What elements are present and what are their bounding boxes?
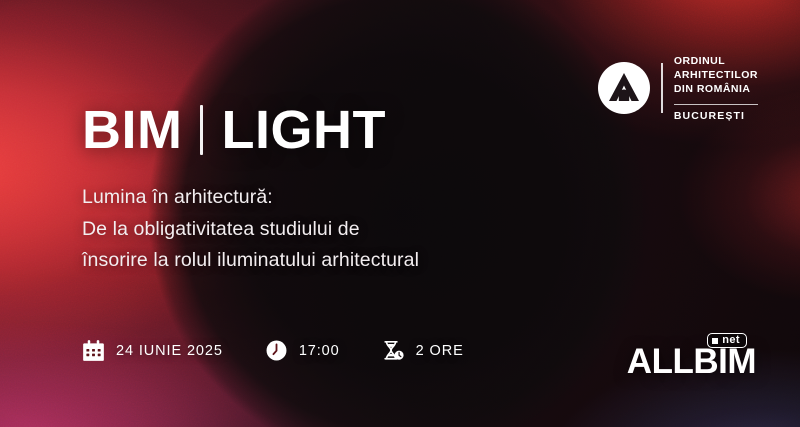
clock-icon xyxy=(265,339,288,362)
allbim-logo: net ALLBIM xyxy=(627,333,756,379)
oar-logo: ORDINUL ARHITECTILOR DIN ROMÂNIA BUCUREȘ… xyxy=(598,55,758,121)
oar-text-block: ORDINUL ARHITECTILOR DIN ROMÂNIA BUCUREȘ… xyxy=(674,55,758,121)
meta-label-time: 17:00 xyxy=(299,343,340,359)
square-icon xyxy=(712,338,718,344)
allbim-net-badge: net xyxy=(707,333,747,348)
oar-branch-wrapper: BUCUREȘTI xyxy=(674,104,758,122)
hourglass-icon xyxy=(382,339,405,362)
event-subtitle: Lumina în arhitectură: De la obligativit… xyxy=(82,182,419,277)
event-banner: BIM LIGHT Lumina în arhitectură: De la o… xyxy=(0,0,800,427)
meta-label-date: 24 IUNIE 2025 xyxy=(116,343,223,359)
event-meta-row: 24 IUNIE 2025 17:00 xyxy=(82,339,464,362)
oar-arch-monogram-icon xyxy=(598,62,650,114)
allbim-wordmark: ALLBIM xyxy=(627,344,756,379)
meta-item-date: 24 IUNIE 2025 xyxy=(82,339,223,362)
title-block: BIM LIGHT xyxy=(82,103,386,157)
title-secondary: LIGHT xyxy=(221,103,385,157)
meta-item-time: 17:00 xyxy=(265,339,340,362)
calendar-icon xyxy=(82,339,105,362)
event-title: BIM LIGHT xyxy=(82,103,386,157)
title-separator xyxy=(200,105,203,155)
oar-organization-name: ORDINUL ARHITECTILOR DIN ROMÂNIA xyxy=(674,55,758,97)
title-primary: BIM xyxy=(82,103,182,157)
oar-divider xyxy=(661,63,663,113)
allbim-badge-text: net xyxy=(722,335,740,346)
oar-branch-name: BUCUREȘTI xyxy=(674,111,758,122)
meta-item-duration: 2 ORE xyxy=(382,339,464,362)
meta-label-duration: 2 ORE xyxy=(416,343,464,359)
